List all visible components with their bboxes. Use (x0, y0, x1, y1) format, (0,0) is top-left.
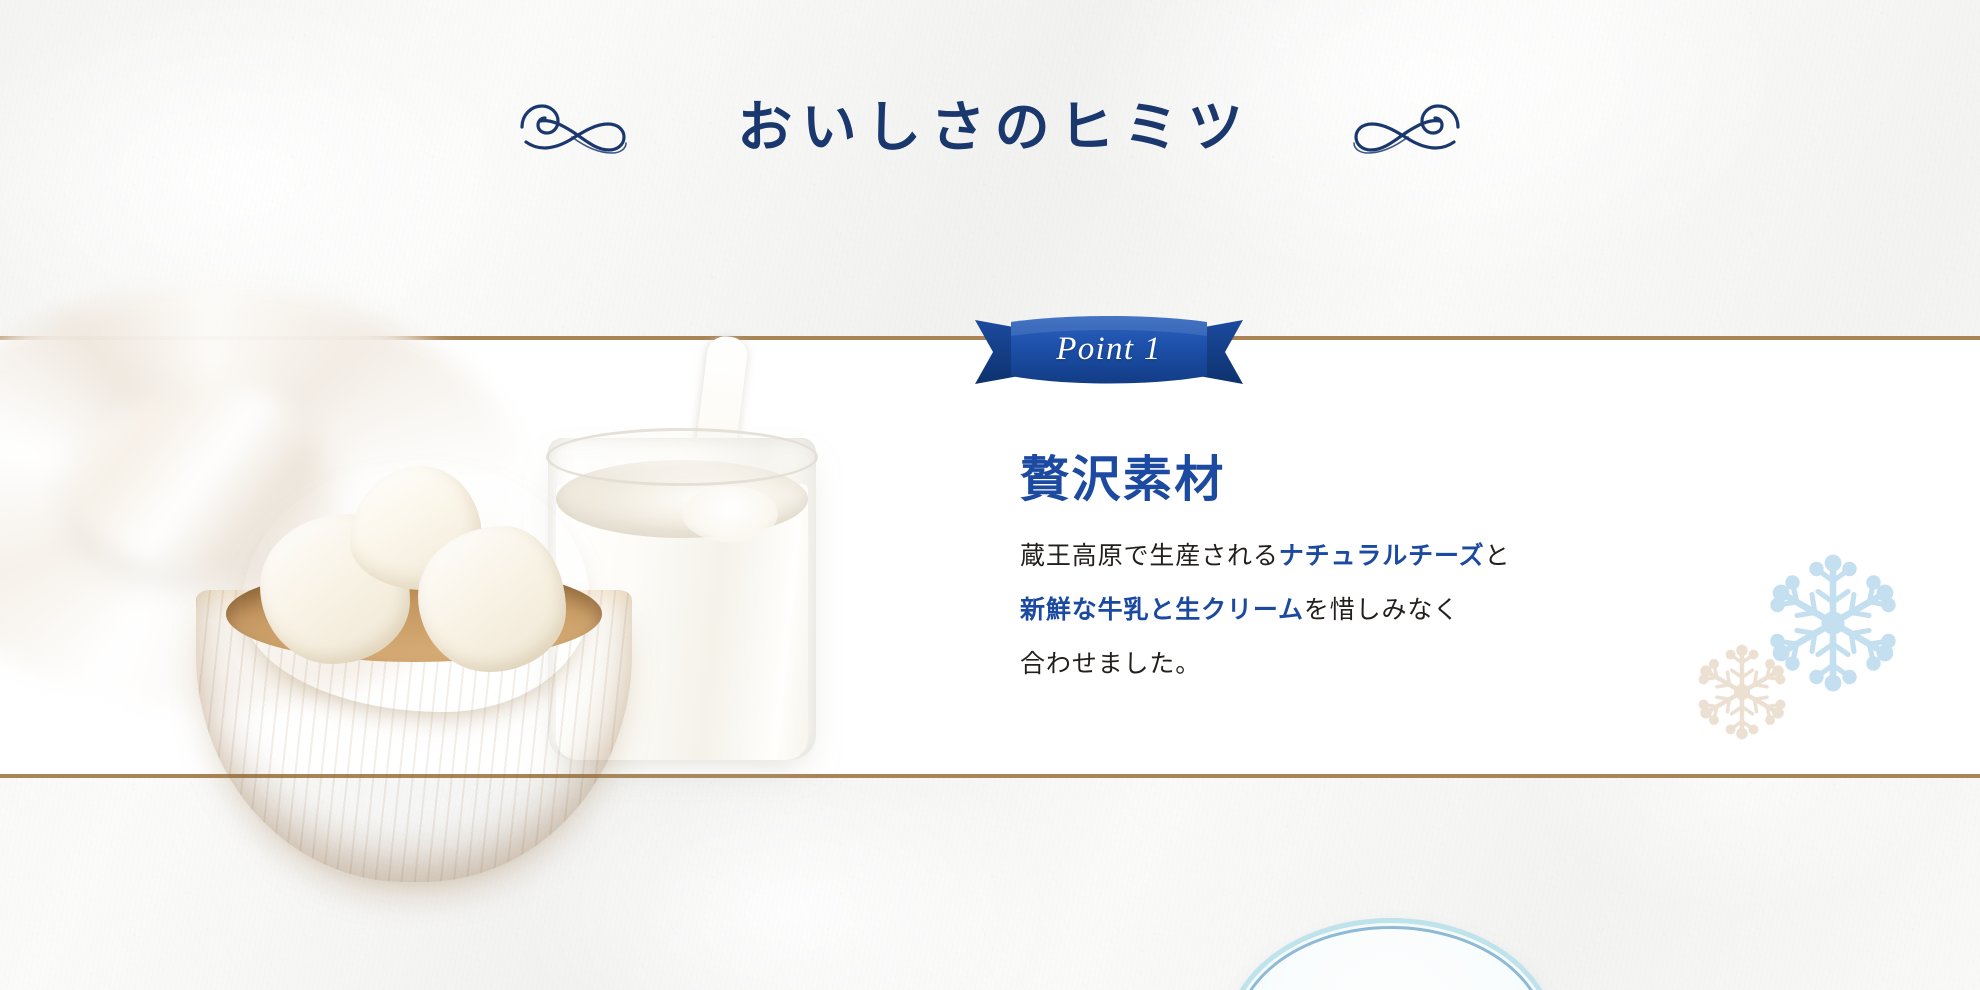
cream-cheese-peak (350, 466, 482, 590)
highlighted-term: 新鮮な牛乳と生クリーム (1020, 597, 1304, 624)
point-description-line: 蔵王高原で生産されるナチュラルチーズと (1020, 530, 1680, 584)
section-title-row: おいしさのヒミツ (0, 96, 1980, 159)
body-text-run: 合わせました。 (1020, 651, 1201, 678)
body-text-run: 蔵王高原で生産される (1020, 543, 1279, 570)
body-text-run: を惜しみなく (1304, 597, 1459, 624)
floral-porcelain-plate-image (1226, 918, 1556, 990)
promo-page: おいしさのヒミツ (0, 0, 1980, 990)
point-heading: 贅沢素材 (1020, 440, 1226, 511)
page-title: おいしさのヒミツ (728, 96, 1252, 159)
cream-cheese-scoops (242, 460, 590, 712)
flourish-swirl-left-icon (514, 97, 684, 159)
highlighted-term: ナチュラルチーズ (1279, 543, 1485, 570)
point-description: 蔵王高原で生産されるナチュラルチーズと新鮮な牛乳と生クリームを惜しみなく合わせま… (1020, 530, 1680, 692)
point-text-column: 贅沢素材 蔵王高原で生産されるナチュラルチーズと新鮮な牛乳と生クリームを惜しみな… (1020, 340, 1720, 774)
body-text-run: と (1485, 543, 1511, 570)
flourish-swirl-right-icon (1296, 97, 1466, 159)
milk-splash (682, 486, 778, 542)
wooden-bowl-image (196, 468, 632, 882)
point-description-line: 合わせました。 (1020, 638, 1680, 692)
point-content-band: 贅沢素材 蔵王高原で生産されるナチュラルチーズと新鮮な牛乳と生クリームを惜しみな… (0, 336, 1980, 778)
plate-floral-pattern (1226, 918, 1556, 990)
snowflake-beige-icon (1690, 640, 1794, 744)
point-ribbon-badge: Point 1 (975, 314, 1243, 388)
ingredients-photo-collage (0, 340, 880, 774)
point-description-line: 新鮮な牛乳と生クリームを惜しみなく (1020, 584, 1680, 638)
